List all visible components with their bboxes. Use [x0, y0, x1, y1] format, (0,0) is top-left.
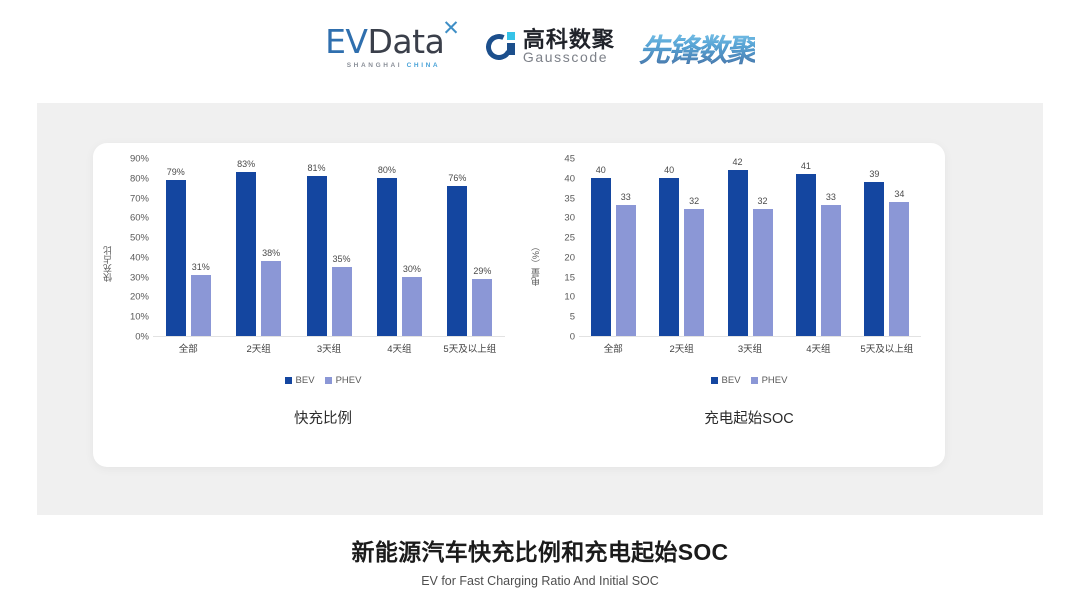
bar-group: 4133	[784, 159, 852, 336]
bar-bev[interactable]: 81%	[307, 176, 327, 336]
bar-fill	[864, 182, 884, 336]
bar-group: 4033	[579, 159, 647, 336]
slide-root: EVData ✕ SHANGHAI CHINA 高科数聚 Gausscode 先…	[0, 0, 1080, 608]
legend-label-phev-right: PHEV	[762, 375, 788, 386]
bar-value-label: 42	[733, 157, 743, 167]
gausscode-navy-square	[507, 43, 515, 55]
bar-fill	[796, 174, 816, 336]
y-tick-label: 0%	[115, 332, 149, 343]
bar-value-label: 30%	[403, 264, 421, 274]
legend-swatch-bev-icon	[711, 377, 718, 384]
evdata-wordmark: EVData ✕	[325, 25, 462, 58]
evdata-tagline-city: SHANGHAI	[347, 62, 402, 69]
x-tick-label: 2天组	[223, 341, 293, 355]
evdata-word-ev: EV	[325, 22, 367, 61]
bar-bev[interactable]: 42	[728, 170, 748, 336]
charts-container: 快充占比 0%10%20%30%40%50%60%70%80%90% 79%31…	[93, 143, 945, 467]
x-tick-label: 全部	[153, 341, 223, 355]
bar-group: 4232	[716, 159, 784, 336]
evdata-cross-icon: ✕	[442, 16, 460, 41]
bar-group: 81%35%	[294, 159, 364, 336]
bar-fill	[616, 205, 636, 336]
bar-fill	[659, 178, 679, 336]
evdata-tagline: SHANGHAI CHINA	[347, 62, 440, 69]
bar-value-label: 33	[621, 192, 631, 202]
xianfeng-logo: 先锋数聚	[639, 25, 755, 70]
x-tick-label: 5天及以上组	[435, 341, 505, 355]
bar-phev[interactable]: 30%	[402, 277, 422, 336]
bar-groups-left: 79%31%83%38%81%35%80%30%76%29%	[153, 159, 505, 336]
plot-area-right: 电量（%） 051015202530354045 403340324232413…	[519, 159, 945, 369]
x-tick-label: 3天组	[294, 341, 364, 355]
logo-bar: EVData ✕ SHANGHAI CHINA 高科数聚 Gausscode 先…	[0, 18, 1080, 76]
evdata-wordmark-text: EVData	[325, 25, 444, 58]
legend-item-bev-left: BEV	[285, 375, 315, 386]
bar-phev[interactable]: 33	[616, 205, 636, 336]
bar-group: 79%31%	[153, 159, 223, 336]
y-axis-ticks-right: 051015202530354045	[541, 159, 575, 337]
y-tick-label: 35	[541, 193, 575, 204]
gausscode-name-cn: 高科数聚	[523, 28, 615, 51]
bar-fill	[591, 178, 611, 336]
y-tick-label: 80%	[115, 173, 149, 184]
x-tick-label: 4天组	[364, 341, 434, 355]
bar-value-label: 32	[689, 196, 699, 206]
legend-swatch-bev-icon	[285, 377, 292, 384]
chart-caption-left: 快充比例	[93, 407, 519, 428]
bar-groups-right: 40334032423241333934	[579, 159, 921, 336]
evdata-word-data: Data	[368, 22, 445, 61]
y-tick-label: 0	[541, 332, 575, 343]
bar-value-label: 38%	[262, 248, 280, 258]
y-axis-label-left: 快充占比	[101, 246, 114, 282]
bar-value-label: 41	[801, 161, 811, 171]
legend-item-bev-right: BEV	[711, 375, 741, 386]
bar-fill	[166, 180, 186, 336]
bar-fill	[447, 186, 467, 336]
bar-fill	[889, 202, 909, 336]
x-tick-label: 4天组	[784, 341, 852, 355]
legend-item-phev-right: PHEV	[751, 375, 788, 386]
bar-phev[interactable]: 38%	[261, 261, 281, 336]
bar-value-label: 81%	[308, 163, 326, 173]
bar-fill	[191, 275, 211, 336]
gausscode-logo: 高科数聚 Gausscode	[486, 28, 615, 65]
bar-bev[interactable]: 40	[659, 178, 679, 336]
bar-value-label: 76%	[448, 173, 466, 183]
bar-value-label: 40	[596, 165, 606, 175]
footer-titles: 新能源汽车快充比例和充电起始SOC EV for Fast Charging R…	[0, 533, 1080, 588]
bar-phev[interactable]: 31%	[191, 275, 211, 336]
y-tick-label: 70%	[115, 193, 149, 204]
bar-phev[interactable]: 32	[684, 209, 704, 336]
chart-caption-right: 充电起始SOC	[519, 407, 945, 428]
y-tick-label: 40	[541, 173, 575, 184]
bars-plot-left: 79%31%83%38%81%35%80%30%76%29%	[153, 159, 505, 337]
legend-left: BEV PHEV	[93, 375, 519, 386]
bar-value-label: 83%	[237, 159, 255, 169]
legend-label-bev-right: BEV	[722, 375, 741, 386]
y-tick-label: 90%	[115, 154, 149, 165]
bar-value-label: 80%	[378, 165, 396, 175]
bar-value-label: 31%	[192, 262, 210, 272]
gausscode-cyan-square	[507, 32, 515, 40]
bar-value-label: 29%	[473, 266, 491, 276]
bar-value-label: 39	[869, 169, 879, 179]
plot-area-left: 快充占比 0%10%20%30%40%50%60%70%80%90% 79%31…	[93, 159, 519, 369]
y-tick-label: 20%	[115, 292, 149, 303]
slide-title-en: EV for Fast Charging Ratio And Initial S…	[0, 574, 1080, 588]
x-axis-labels-right: 全部2天组3天组4天组5天及以上组	[579, 341, 921, 355]
bar-value-label: 32	[758, 196, 768, 206]
x-axis-labels-left: 全部2天组3天组4天组5天及以上组	[153, 341, 505, 355]
bar-bev[interactable]: 41	[796, 174, 816, 336]
bar-fill	[472, 279, 492, 336]
bar-bev[interactable]: 79%	[166, 180, 186, 336]
chart-initial-soc: 电量（%） 051015202530354045 403340324232413…	[519, 143, 945, 467]
bar-phev[interactable]: 32	[753, 209, 773, 336]
y-tick-label: 10%	[115, 312, 149, 323]
y-tick-label: 45	[541, 154, 575, 165]
bar-value-label: 35%	[333, 254, 351, 264]
bar-bev[interactable]: 83%	[236, 172, 256, 336]
bar-value-label: 79%	[167, 167, 185, 177]
bar-group: 4032	[647, 159, 715, 336]
legend-swatch-phev-icon	[751, 377, 758, 384]
bar-fill	[261, 261, 281, 336]
gausscode-logo-icon	[486, 32, 516, 62]
evdata-logo: EVData ✕ SHANGHAI CHINA	[325, 25, 462, 69]
y-axis-ticks-left: 0%10%20%30%40%50%60%70%80%90%	[115, 159, 149, 337]
bar-value-label: 34	[894, 189, 904, 199]
legend-right: BEV PHEV	[519, 375, 945, 386]
x-tick-label: 2天组	[647, 341, 715, 355]
slide-title-cn: 新能源汽车快充比例和充电起始SOC	[0, 533, 1080, 567]
bar-fill	[307, 176, 327, 336]
y-tick-label: 5	[541, 312, 575, 323]
bar-fill	[332, 267, 352, 336]
bar-fill	[728, 170, 748, 336]
gausscode-name-en: Gausscode	[523, 50, 615, 65]
y-tick-label: 30%	[115, 272, 149, 283]
bar-group: 83%38%	[223, 159, 293, 336]
legend-swatch-phev-icon	[325, 377, 332, 384]
bar-value-label: 40	[664, 165, 674, 175]
y-tick-label: 15	[541, 272, 575, 283]
bar-fill	[821, 205, 841, 336]
x-tick-label: 全部	[579, 341, 647, 355]
bar-fill	[753, 209, 773, 336]
y-tick-label: 10	[541, 292, 575, 303]
bar-bev[interactable]: 39	[864, 182, 884, 336]
gausscode-text: 高科数聚 Gausscode	[523, 28, 615, 65]
bar-bev[interactable]: 80%	[377, 178, 397, 336]
bar-group: 3934	[853, 159, 921, 336]
legend-label-phev-left: PHEV	[336, 375, 362, 386]
bar-phev[interactable]: 35%	[332, 267, 352, 336]
bar-fill	[402, 277, 422, 336]
legend-item-phev-left: PHEV	[325, 375, 362, 386]
bar-phev[interactable]: 33	[821, 205, 841, 336]
y-tick-label: 25	[541, 233, 575, 244]
bar-bev[interactable]: 40	[591, 178, 611, 336]
bar-group: 76%29%	[435, 159, 505, 336]
y-tick-label: 60%	[115, 213, 149, 224]
y-tick-label: 50%	[115, 233, 149, 244]
evdata-tagline-country: CHINA	[407, 62, 441, 69]
bar-bev[interactable]: 76%	[447, 186, 467, 336]
chart-fast-charging-ratio: 快充占比 0%10%20%30%40%50%60%70%80%90% 79%31…	[93, 143, 519, 467]
y-tick-label: 30	[541, 213, 575, 224]
bar-group: 80%30%	[364, 159, 434, 336]
x-tick-label: 5天及以上组	[853, 341, 921, 355]
bars-plot-right: 40334032423241333934	[579, 159, 921, 337]
y-tick-label: 20	[541, 252, 575, 263]
bar-phev[interactable]: 34	[889, 202, 909, 336]
bar-value-label: 33	[826, 192, 836, 202]
bar-fill	[236, 172, 256, 336]
legend-label-bev-left: BEV	[296, 375, 315, 386]
x-tick-label: 3天组	[716, 341, 784, 355]
bar-phev[interactable]: 29%	[472, 279, 492, 336]
bar-fill	[377, 178, 397, 336]
bar-fill	[684, 209, 704, 336]
y-tick-label: 40%	[115, 252, 149, 263]
